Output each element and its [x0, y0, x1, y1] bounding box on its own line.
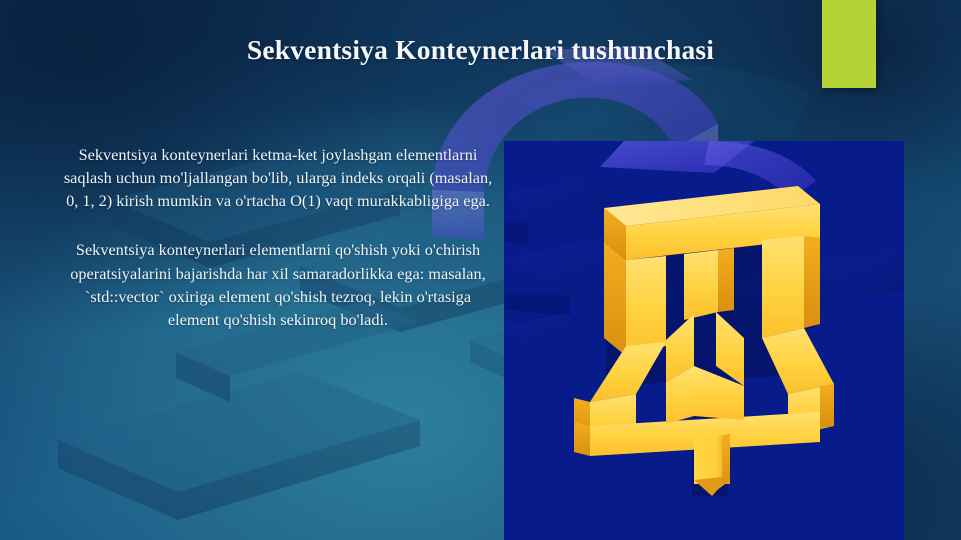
paragraph-2: Sekventsiya konteynerlari elementlarni q…: [58, 238, 498, 331]
page-title: Sekventsiya Konteynerlari tushunchasi: [0, 34, 961, 66]
pushpin-illustration: [504, 141, 904, 540]
paragraph-spacer: [58, 212, 498, 238]
body-text-block: Sekventsiya konteynerlari ketma-ket joyl…: [58, 143, 498, 331]
slide-canvas: Sekventsiya Konteynerlari tushunchasi Se…: [0, 0, 961, 540]
paragraph-1: Sekventsiya konteynerlari ketma-ket joyl…: [58, 143, 498, 212]
pushpin-icon: [566, 180, 842, 502]
